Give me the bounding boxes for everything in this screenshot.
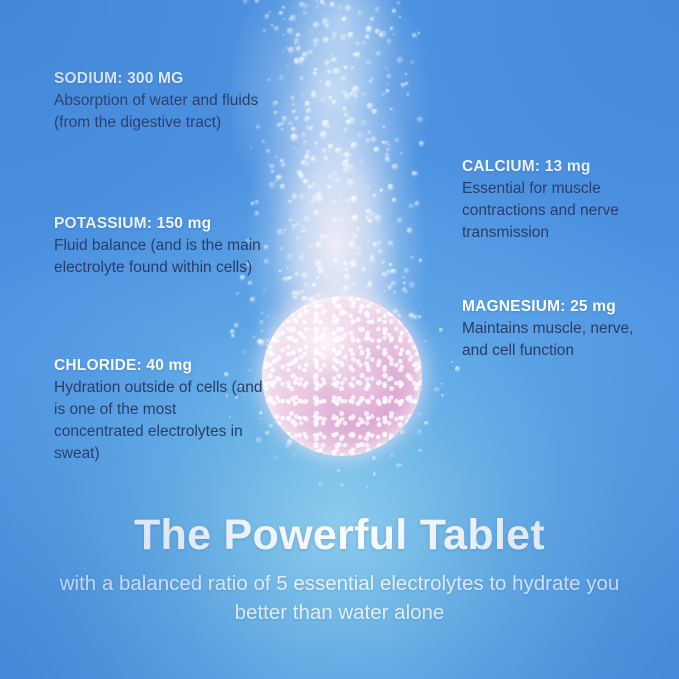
callout-magnesium-title: MAGNESIUM: 25 mg	[462, 298, 662, 316]
stray-bubble	[373, 472, 376, 475]
stray-bubble	[445, 393, 447, 395]
stray-bubble	[417, 429, 423, 435]
stray-bubble	[293, 453, 297, 457]
stray-bubble	[224, 372, 229, 377]
plume-core	[232, 0, 432, 346]
stray-bubble	[256, 437, 261, 442]
callout-sodium-body: Absorption of water and fluids (from the…	[54, 90, 266, 134]
tablet-bubble-texture	[262, 296, 422, 456]
stray-bubble	[337, 469, 340, 472]
stray-bubble	[400, 430, 405, 435]
stray-bubble	[317, 444, 322, 449]
callout-chloride-body: Hydration outside of cells (and is one o…	[54, 377, 266, 465]
stray-bubble	[273, 455, 278, 460]
stray-bubble	[418, 315, 422, 319]
stray-bubble	[419, 303, 422, 306]
stray-bubble	[248, 369, 252, 373]
stray-bubble	[420, 363, 422, 365]
stray-bubble	[441, 383, 443, 385]
stray-bubble	[273, 421, 277, 425]
tablet-image	[262, 296, 422, 456]
stray-bubble	[383, 290, 386, 293]
stray-bubble	[385, 284, 388, 287]
electrolyte-tablet-infographic: SODIUM: 300 MG Absorption of water and f…	[0, 0, 679, 679]
footer-block: The Powerful Tablet with a balanced rati…	[0, 510, 679, 627]
stray-bubble	[368, 281, 373, 286]
stray-bubble	[448, 397, 450, 399]
stray-bubble	[380, 279, 382, 281]
stray-bubble	[259, 320, 264, 325]
callout-magnesium-body: Maintains muscle, nerve, and cell functi…	[462, 318, 662, 362]
stray-bubble	[424, 421, 428, 425]
stray-bubble	[234, 323, 239, 328]
stray-bubble	[230, 329, 236, 335]
tablet-halo	[246, 280, 438, 472]
stray-bubble	[366, 486, 368, 488]
callout-sodium-title: SODIUM: 300 MG	[54, 70, 266, 88]
callout-chloride-title: CHLORIDE: 40 mg	[54, 357, 266, 375]
stray-bubble	[242, 350, 247, 355]
stray-bubble	[439, 328, 443, 332]
stray-bubble	[372, 456, 376, 460]
stray-bubble	[399, 464, 401, 466]
stray-bubble	[287, 439, 293, 445]
headline: The Powerful Tablet	[0, 510, 679, 561]
stray-bubble	[441, 394, 444, 397]
stray-bubble	[434, 387, 440, 393]
stray-bubble	[275, 335, 277, 337]
callout-chloride: CHLORIDE: 40 mg Hydration outside of cel…	[54, 357, 266, 465]
stray-bubble	[418, 412, 423, 417]
stray-bubble	[243, 394, 245, 396]
callout-potassium-title: POTASSIUM: 150 mg	[54, 215, 266, 233]
callout-calcium-body: Essential for muscle contractions and ne…	[462, 178, 662, 244]
callout-potassium: POTASSIUM: 150 mg Fluid balance (and is …	[54, 215, 266, 279]
bubble-plume	[232, 0, 432, 346]
callout-calcium-title: CALCIUM: 13 mg	[462, 158, 662, 176]
stray-bubble	[260, 418, 262, 420]
stray-bubble	[316, 276, 320, 280]
stray-bubble	[330, 300, 333, 303]
stray-bubble	[415, 394, 419, 398]
stray-bubble	[402, 287, 407, 292]
stray-bubble	[390, 454, 393, 457]
stray-bubble	[455, 366, 460, 371]
stray-bubble	[263, 289, 266, 292]
stray-bubble	[420, 389, 422, 391]
callout-magnesium: MAGNESIUM: 25 mg Maintains muscle, nerve…	[462, 298, 662, 362]
stray-bubble	[242, 331, 244, 333]
callout-sodium: SODIUM: 300 MG Absorption of water and f…	[54, 70, 266, 134]
stray-bubble	[340, 483, 344, 487]
callout-potassium-body: Fluid balance (and is the main electroly…	[54, 235, 266, 279]
stray-bubble	[411, 287, 413, 289]
stray-bubble	[266, 339, 270, 343]
stray-bubble	[361, 267, 366, 272]
tablet-sphere	[262, 296, 422, 456]
stray-bubble	[404, 414, 409, 419]
subheadline: with a balanced ratio of 5 essential ele…	[60, 569, 620, 627]
stray-bubble	[294, 296, 299, 301]
stray-bubble	[235, 396, 237, 398]
stray-bubble	[451, 361, 453, 363]
plume-bubbles	[232, 0, 432, 346]
stray-bubble	[419, 449, 422, 452]
stray-bubble	[265, 431, 270, 436]
stray-bubble	[424, 340, 427, 343]
stray-bubble	[354, 447, 356, 449]
callout-calcium: CALCIUM: 13 mg Essential for muscle cont…	[462, 158, 662, 244]
tablet-edge-highlight	[262, 296, 422, 456]
